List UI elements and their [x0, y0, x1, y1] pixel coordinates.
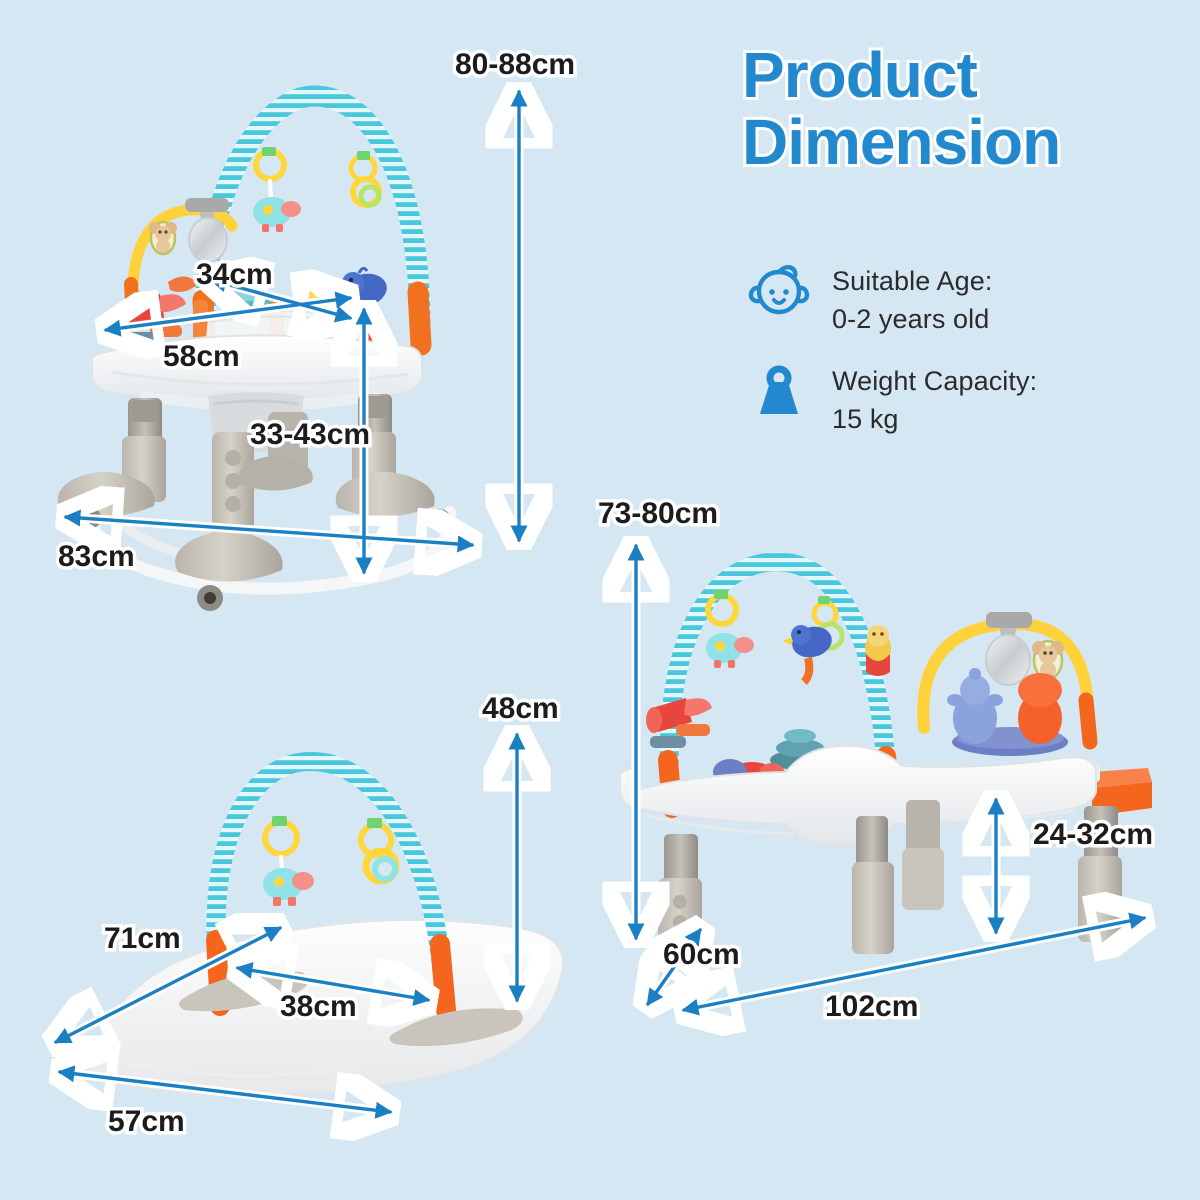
- weight-capacity-value: 15 kg: [832, 400, 1037, 438]
- dimension-label-73-80cm: 73-80cm: [598, 497, 718, 531]
- info-suitable-age: Suitable Age: 0-2 years old: [748, 262, 992, 339]
- weight-capacity-label: Weight Capacity:: [832, 366, 1037, 396]
- suitable-age-value: 0-2 years old: [832, 300, 992, 338]
- dimension-label-38cm: 38cm: [280, 990, 357, 1024]
- title-line-2: Dimension: [742, 109, 1172, 176]
- dimension-label-57cm: 57cm: [108, 1105, 185, 1139]
- title-line-1: Product: [742, 42, 1172, 109]
- weight-capacity-text: Weight Capacity: 15 kg: [832, 362, 1037, 439]
- suitable-age-label: Suitable Age:: [832, 266, 992, 296]
- dimension-label-58cm: 58cm: [163, 340, 240, 374]
- dimension-label-71cm: 71cm: [104, 922, 181, 956]
- dimension-label-60cm: 60cm: [663, 938, 740, 972]
- dimension-label-24-32cm: 24-32cm: [1033, 818, 1153, 852]
- info-weight-capacity: Weight Capacity: 15 kg: [748, 362, 1037, 439]
- page-title: Product Dimension: [742, 42, 1172, 175]
- baby-face-icon: [748, 262, 810, 328]
- dimension-label-34cm: 34cm: [196, 258, 273, 292]
- dimension-label-33-43cm: 33-43cm: [250, 418, 370, 452]
- dimension-label-48cm: 48cm: [482, 692, 559, 726]
- dimension-label-80-88cm: 80-88cm: [455, 48, 575, 82]
- weight-icon: [748, 362, 810, 428]
- dimension-label-83cm: 83cm: [58, 540, 135, 574]
- suitable-age-text: Suitable Age: 0-2 years old: [832, 262, 992, 339]
- dimension-label-102cm: 102cm: [825, 990, 918, 1024]
